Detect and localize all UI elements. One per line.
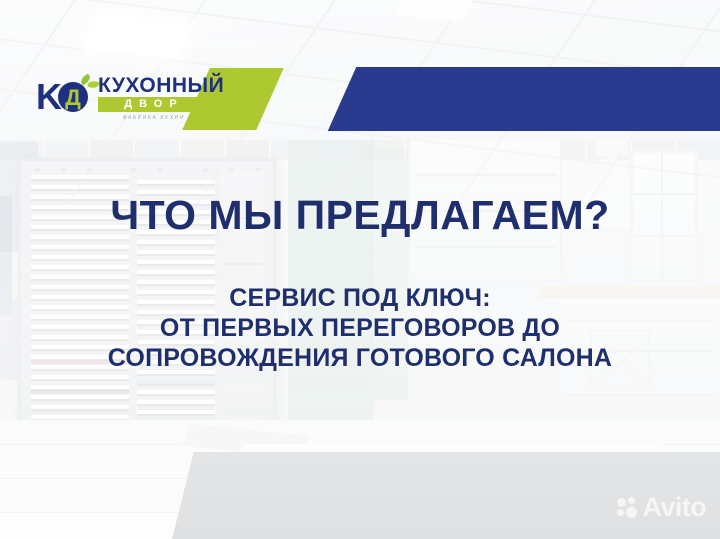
subtitle-line-2: ОТ ПЕРВЫХ ПЕРЕГОВОРОВ ДО	[0, 313, 720, 343]
brand-name-line1: КУХОННЫЙ	[98, 74, 224, 98]
logo-letter-k: K	[36, 79, 60, 115]
brand-name-line2: ДВОР	[98, 97, 210, 112]
brand-logo[interactable]: K Д КУХОННЫЙ ДВОР ФАБРИКА КУХНИ	[36, 72, 212, 128]
avito-watermark: Avito	[617, 494, 707, 521]
logo-monogram: K Д	[36, 78, 94, 118]
page-title: ЧТО МЫ ПРЕДЛАГАЕМ?	[0, 192, 720, 239]
brand-tagline: ФАБРИКА КУХНИ	[98, 115, 210, 121]
marketing-slide: K Д КУХОННЫЙ ДВОР ФАБРИКА КУХНИ ЧТО МЫ П…	[0, 0, 720, 539]
logo-letter-d: Д	[58, 83, 88, 113]
subtitle-line-1: СЕРВИС ПОД КЛЮЧ:	[0, 283, 720, 313]
blue-parallelogram-tail	[660, 67, 720, 131]
subtitle-line-3: СОПРОВОЖДЕНИЯ ГОТОВОГО САЛОНА	[0, 343, 720, 373]
avito-dots-icon	[617, 497, 639, 519]
subtitle-block: СЕРВИС ПОД КЛЮЧ: ОТ ПЕРВЫХ ПЕРЕГОВОРОВ Д…	[0, 283, 720, 373]
avito-wordmark: Avito	[643, 494, 707, 521]
